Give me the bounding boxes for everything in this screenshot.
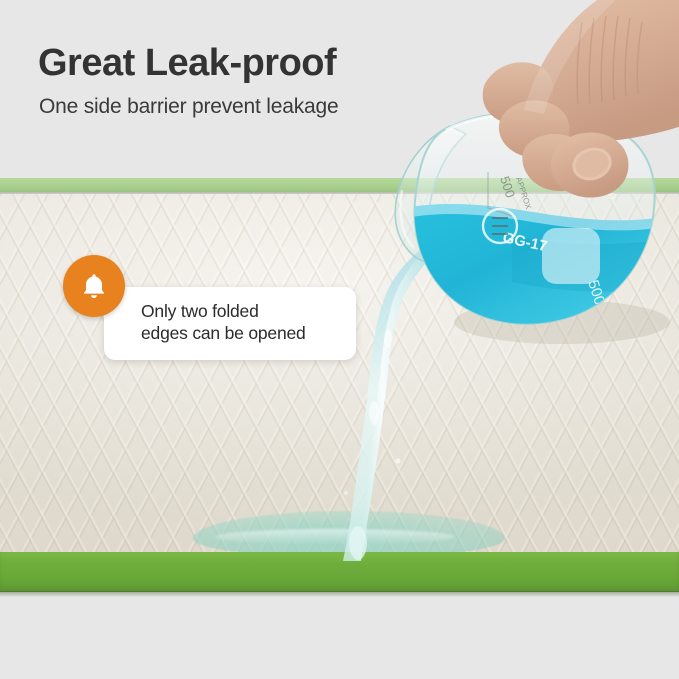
hand-pouring [432,0,679,244]
page-subtitle: One side barrier prevent leakage [39,95,338,119]
callout-badge [63,255,125,317]
product-feature-image: Great Leak-proof One side barrier preven… [0,0,679,679]
mat-drop-shadow [0,591,679,597]
callout-line-2: edges can be opened [141,322,340,344]
callout-line-1: Only two folded [141,300,340,322]
callout: Only two folded edges can be opened [63,255,363,355]
page-title: Great Leak-proof [38,42,336,85]
bell-icon [78,270,110,302]
callout-card: Only two folded edges can be opened [104,287,356,360]
